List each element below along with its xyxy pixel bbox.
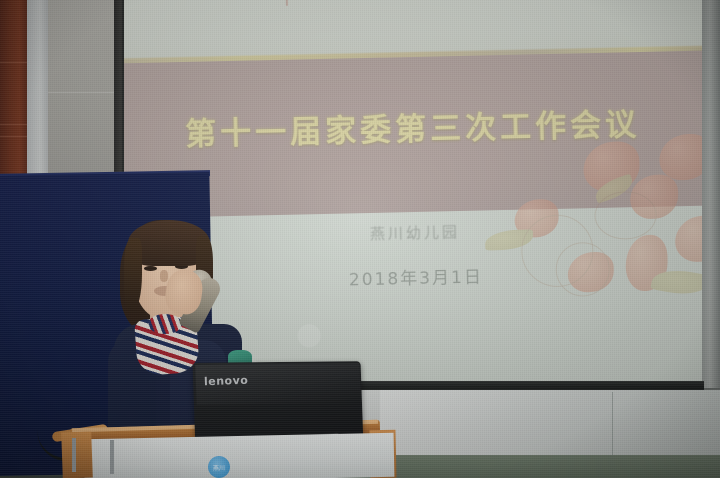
scarf-knot <box>148 314 182 334</box>
school-emblem-icon: 燕川 <box>208 456 230 478</box>
podium-front-panel <box>84 433 395 478</box>
screenshot-root: 第十一届家委第三次工作会议 燕川幼儿园 2018年3月1日 <box>0 0 720 478</box>
laptop-brand-logo: lenovo <box>204 373 274 389</box>
wall-right-edge <box>700 0 720 388</box>
hair-side-left <box>124 238 142 310</box>
podium-left-wood <box>61 431 93 478</box>
lower-wall-highlight <box>380 390 720 464</box>
wall-wood-panel <box>0 0 28 196</box>
wall-seam <box>612 392 613 462</box>
floral-motif <box>473 129 702 385</box>
podium-leg <box>72 438 76 472</box>
wall-panel <box>48 0 116 196</box>
podium-leg <box>110 440 114 474</box>
eye-left <box>144 266 157 271</box>
nose <box>160 270 168 282</box>
wall-gray-strip <box>27 0 49 196</box>
